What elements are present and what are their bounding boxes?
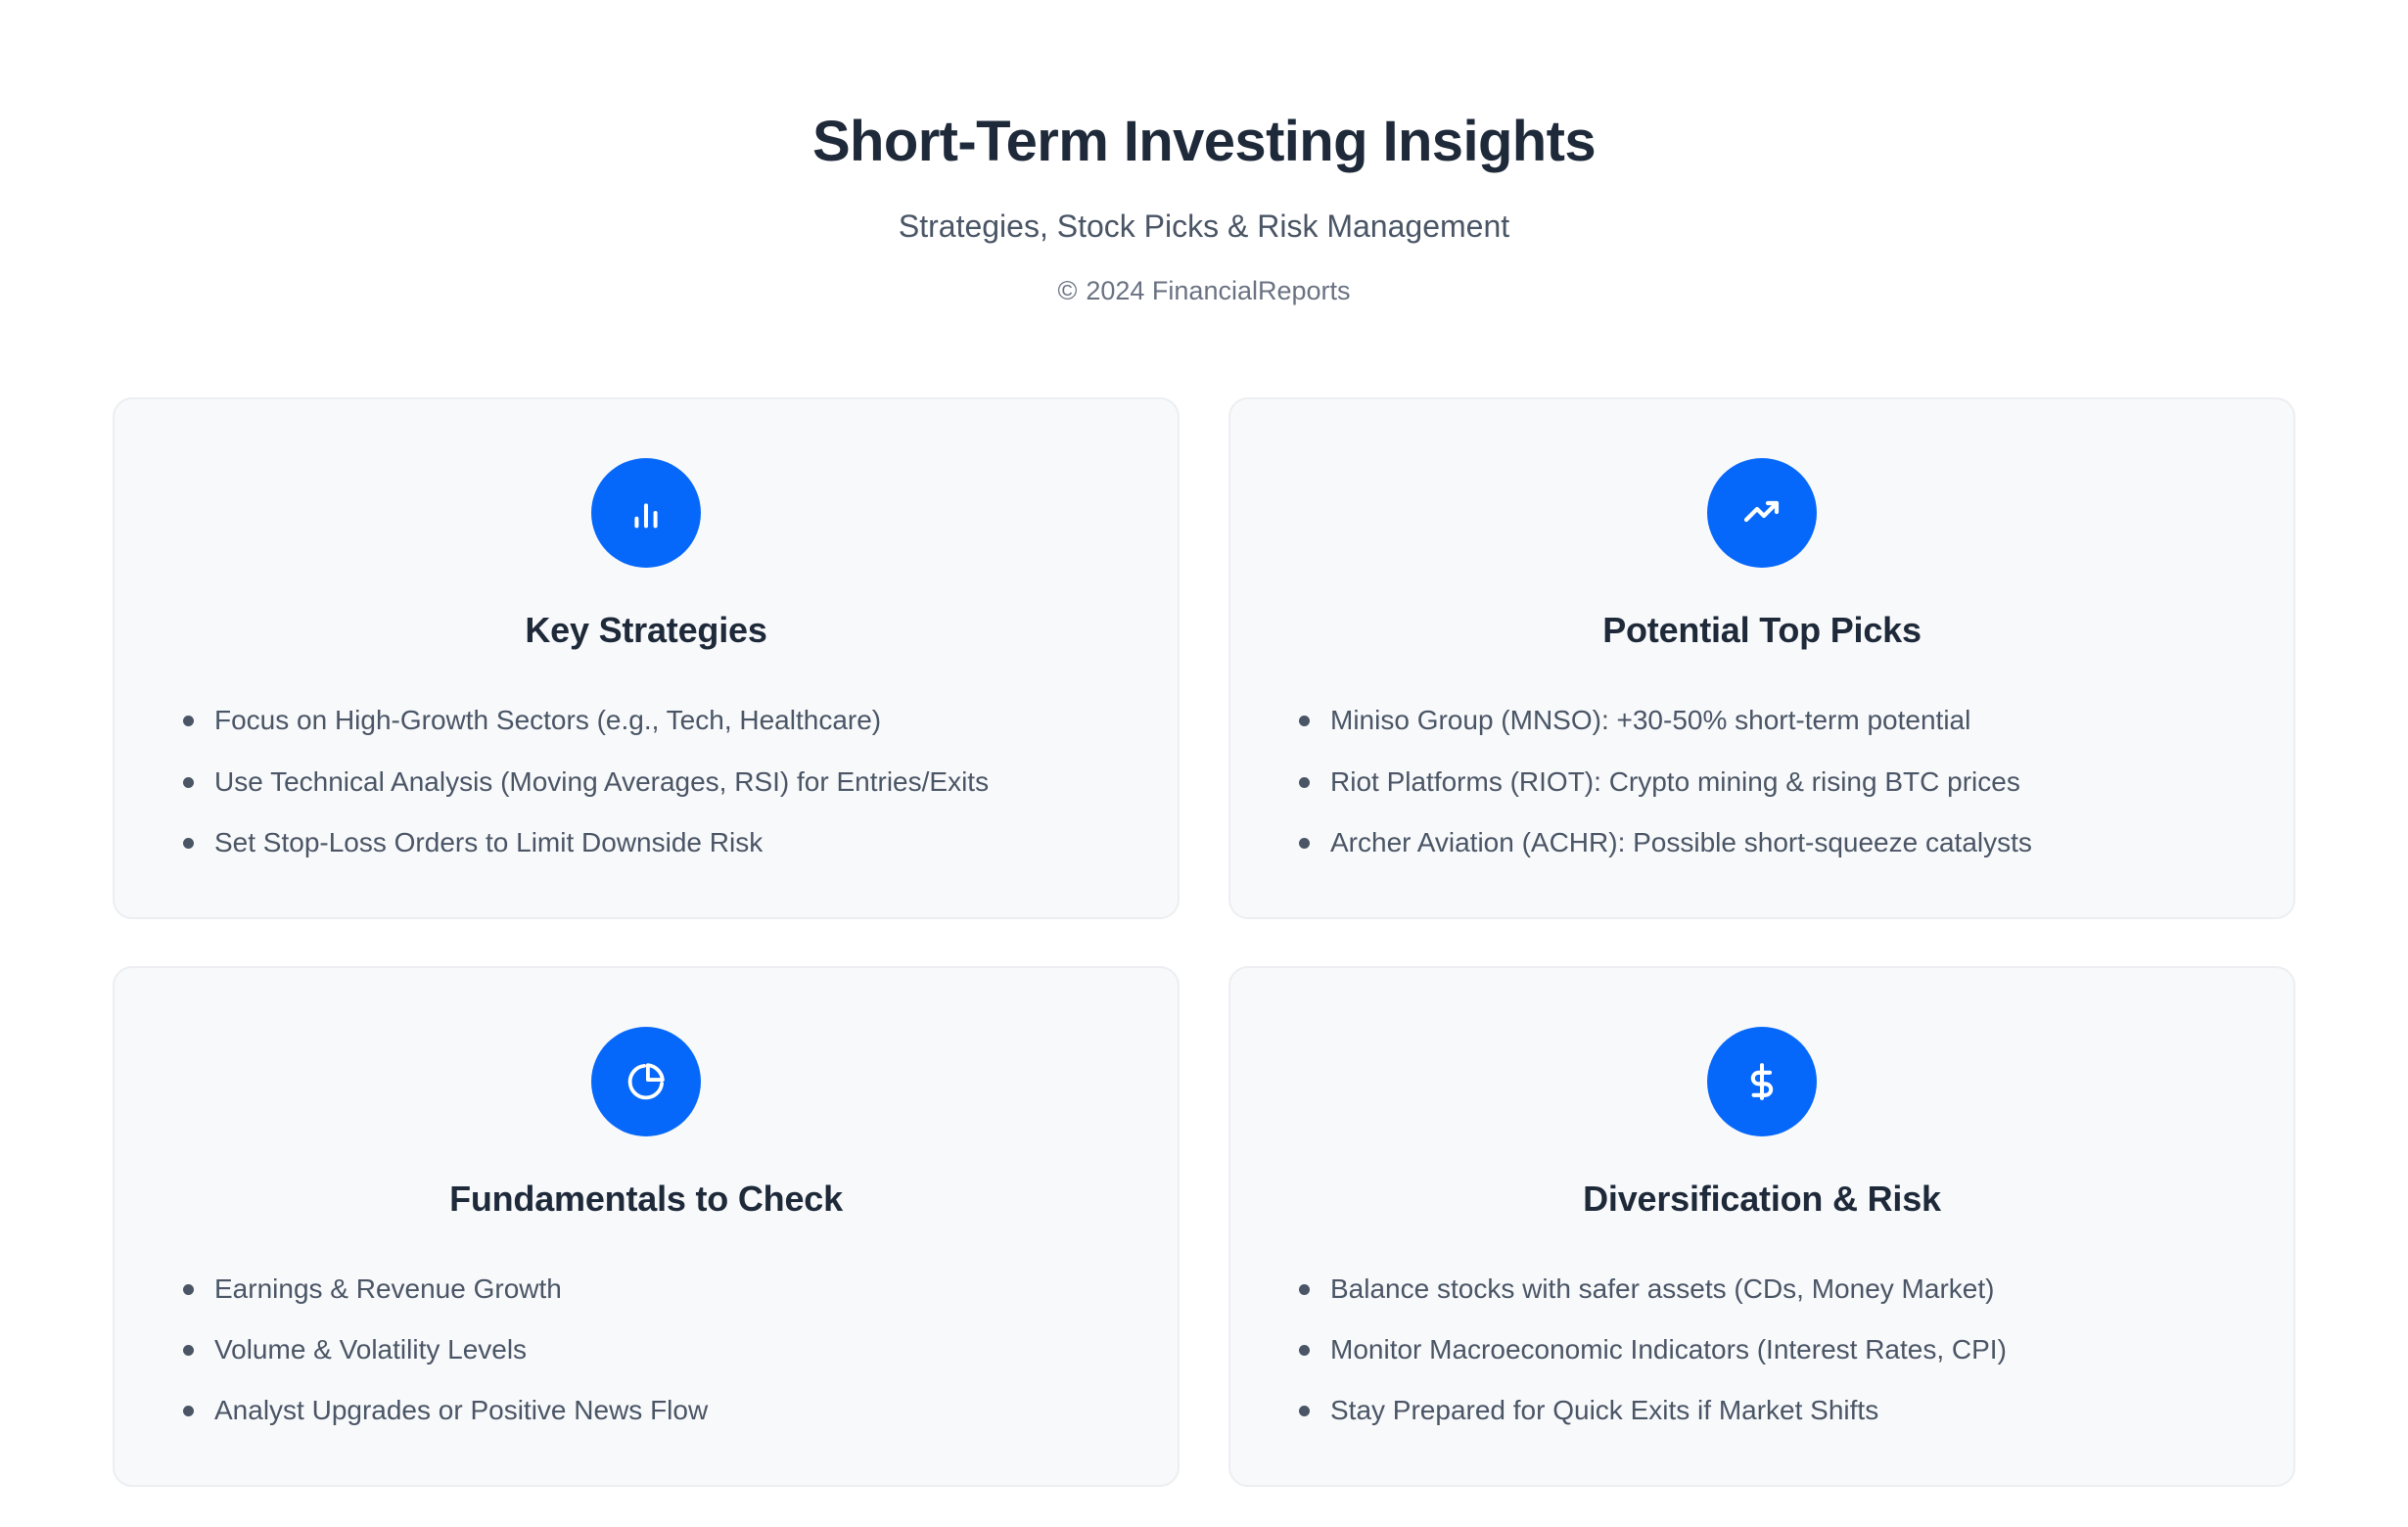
card-fundamentals-to-check[interactable]: Fundamentals to Check Earnings & Revenue… xyxy=(113,966,1180,1487)
trending-up-icon xyxy=(1707,458,1817,568)
list-item: Volume & Volatility Levels xyxy=(158,1319,1135,1380)
list-item: Riot Platforms (RIOT): Crypto mining & r… xyxy=(1273,752,2250,812)
card-potential-top-picks[interactable]: Potential Top Picks Miniso Group (MNSO):… xyxy=(1228,397,2295,918)
list-item: Earnings & Revenue Growth xyxy=(158,1259,1135,1319)
page-header: Short-Term Investing Insights Strategies… xyxy=(0,0,2408,306)
card-bullet-list: Focus on High-Growth Sectors (e.g., Tech… xyxy=(158,651,1135,873)
card-bullet-list: Balance stocks with safer assets (CDs, M… xyxy=(1273,1220,2250,1442)
bullet-dot-icon xyxy=(183,1345,194,1356)
list-item-label: Archer Aviation (ACHR): Possible short-s… xyxy=(1330,827,2032,857)
bullet-dot-icon xyxy=(183,716,194,726)
list-item: Focus on High-Growth Sectors (e.g., Tech… xyxy=(158,690,1135,751)
list-item: Analyst Upgrades or Positive News Flow xyxy=(158,1380,1135,1441)
bullet-dot-icon xyxy=(1299,1284,1310,1295)
bullet-dot-icon xyxy=(183,838,194,849)
bullet-dot-icon xyxy=(1299,777,1310,788)
card-grid: Key Strategies Focus on High-Growth Sect… xyxy=(113,397,2295,1486)
card-title: Fundamentals to Check xyxy=(158,1136,1135,1220)
bullet-dot-icon xyxy=(183,1284,194,1295)
list-item-label: Monitor Macroeconomic Indicators (Intere… xyxy=(1330,1334,2007,1365)
card-icon-wrap xyxy=(1273,1027,2250,1136)
list-item: Archer Aviation (ACHR): Possible short-s… xyxy=(1273,812,2250,873)
bullet-dot-icon xyxy=(1299,1345,1310,1356)
pie-chart-icon xyxy=(591,1027,701,1136)
list-item-label: Stay Prepared for Quick Exits if Market … xyxy=(1330,1395,1878,1425)
bar-chart-icon xyxy=(591,458,701,568)
list-item: Miniso Group (MNSO): +30-50% short-term … xyxy=(1273,690,2250,751)
bullet-dot-icon xyxy=(183,777,194,788)
bullet-dot-icon xyxy=(1299,716,1310,726)
copyright-text: 2024 FinancialReports xyxy=(1086,276,1350,305)
list-item-label: Set Stop-Loss Orders to Limit Downside R… xyxy=(214,827,763,857)
list-item-label: Analyst Upgrades or Positive News Flow xyxy=(214,1395,708,1425)
dollar-sign-icon xyxy=(1707,1027,1817,1136)
list-item: Balance stocks with safer assets (CDs, M… xyxy=(1273,1259,2250,1319)
bullet-dot-icon xyxy=(1299,838,1310,849)
card-diversification-and-risk[interactable]: Diversification & Risk Balance stocks wi… xyxy=(1228,966,2295,1487)
bullet-dot-icon xyxy=(183,1406,194,1416)
card-icon-wrap xyxy=(1273,458,2250,568)
bullet-dot-icon xyxy=(1299,1406,1310,1416)
card-icon-wrap xyxy=(158,1027,1135,1136)
list-item-label: Volume & Volatility Levels xyxy=(214,1334,527,1365)
list-item-label: Miniso Group (MNSO): +30-50% short-term … xyxy=(1330,705,1970,735)
list-item: Use Technical Analysis (Moving Averages,… xyxy=(158,752,1135,812)
page-title: Short-Term Investing Insights xyxy=(0,110,2408,175)
card-key-strategies[interactable]: Key Strategies Focus on High-Growth Sect… xyxy=(113,397,1180,918)
card-bullet-list: Miniso Group (MNSO): +30-50% short-term … xyxy=(1273,651,2250,873)
page-root: Short-Term Investing Insights Strategies… xyxy=(0,0,2408,1527)
list-item: Monitor Macroeconomic Indicators (Intere… xyxy=(1273,1319,2250,1380)
card-title: Potential Top Picks xyxy=(1273,568,2250,651)
list-item-label: Focus on High-Growth Sectors (e.g., Tech… xyxy=(214,705,881,735)
copyright-line: ©2024 FinancialReports xyxy=(0,245,2408,306)
copyright-icon: © xyxy=(1057,276,1077,305)
page-subtitle: Strategies, Stock Picks & Risk Managemen… xyxy=(0,175,2408,245)
card-title: Key Strategies xyxy=(158,568,1135,651)
list-item: Set Stop-Loss Orders to Limit Downside R… xyxy=(158,812,1135,873)
list-item: Stay Prepared for Quick Exits if Market … xyxy=(1273,1380,2250,1441)
list-item-label: Earnings & Revenue Growth xyxy=(214,1273,562,1304)
card-title: Diversification & Risk xyxy=(1273,1136,2250,1220)
card-icon-wrap xyxy=(158,458,1135,568)
card-bullet-list: Earnings & Revenue Growth Volume & Volat… xyxy=(158,1220,1135,1442)
list-item-label: Riot Platforms (RIOT): Crypto mining & r… xyxy=(1330,766,2020,797)
list-item-label: Balance stocks with safer assets (CDs, M… xyxy=(1330,1273,1994,1304)
list-item-label: Use Technical Analysis (Moving Averages,… xyxy=(214,766,989,797)
